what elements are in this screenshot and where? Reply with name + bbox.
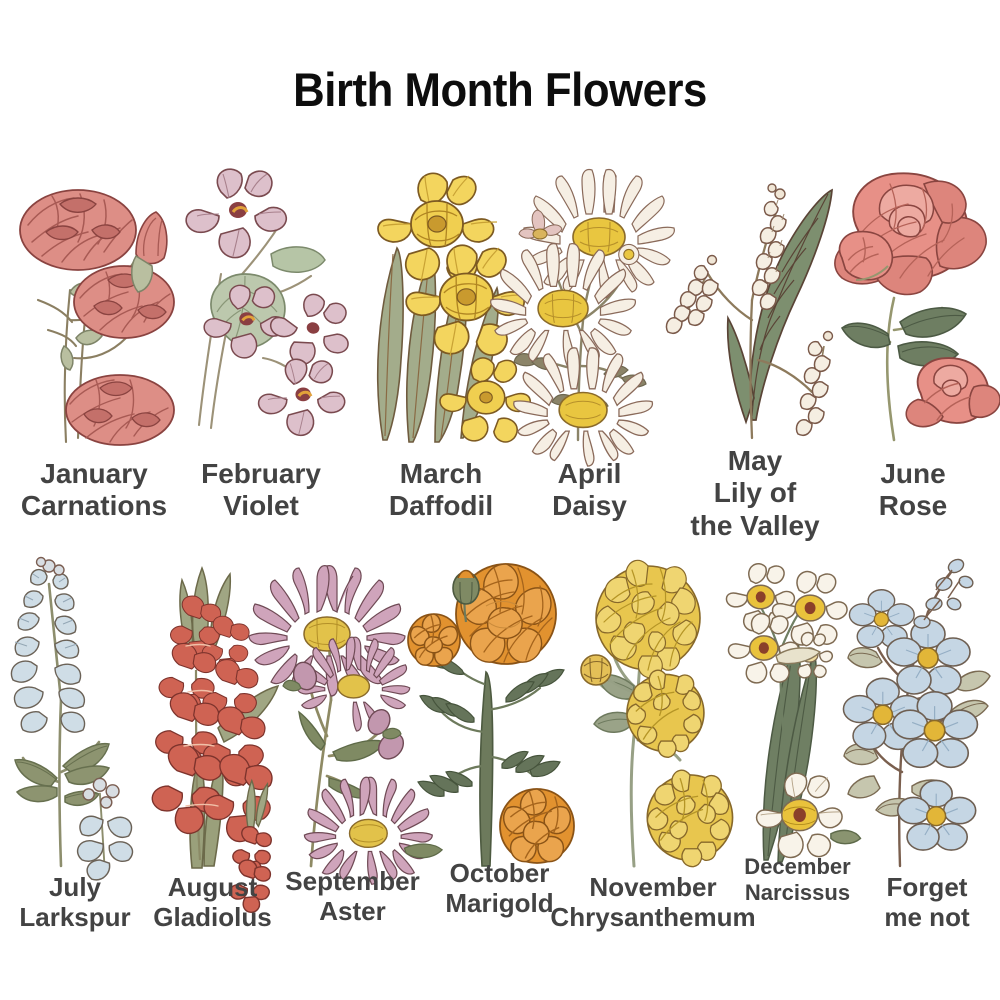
flower-caption-june: June Rose: [879, 458, 947, 523]
flower-cell-february[interactable]: February Violet: [175, 170, 347, 445]
flower-cell-january[interactable]: January Carnations: [8, 170, 180, 445]
flower-row-first-half: January Carnations: [0, 170, 1000, 560]
caption-line: May: [690, 445, 819, 477]
birth-month-flowers-poster: Birth Month Flowers: [0, 0, 1000, 1000]
flower-caption-november: November Chrysanthemum: [550, 872, 755, 932]
caption-line: me not: [884, 902, 969, 932]
chrysanthemum-illustration: [578, 560, 728, 870]
flower-caption-forget-me-not: Forget me not: [884, 872, 969, 932]
caption-line: August: [153, 872, 271, 902]
caption-line: Gladiolus: [153, 902, 271, 932]
caption-line: September: [285, 866, 419, 896]
rose-illustration: [828, 170, 998, 445]
flower-caption-march: March Daffodil: [389, 458, 493, 523]
caption-line: Larkspur: [19, 902, 130, 932]
aster-illustration: [275, 560, 430, 870]
violet-illustration: [175, 170, 347, 445]
flower-caption-may: May Lily of the Valley: [690, 445, 819, 542]
caption-line: March: [389, 458, 493, 490]
flower-caption-december: December Narcissus: [744, 854, 850, 905]
caption-line: Chrysanthemum: [550, 902, 755, 932]
larkspur-illustration: [5, 560, 145, 870]
caption-line: Forget: [884, 872, 969, 902]
caption-line: January: [21, 458, 167, 490]
caption-line: Aster: [285, 896, 419, 926]
flower-caption-july: July Larkspur: [19, 872, 130, 932]
flower-caption-august: August Gladiolus: [153, 872, 271, 932]
flower-cell-october[interactable]: October Marigold: [422, 560, 577, 870]
caption-line: Marigold: [445, 888, 553, 918]
caption-line: Lily of: [690, 477, 819, 509]
caption-line: Rose: [879, 490, 947, 522]
flower-caption-october: October Marigold: [445, 858, 553, 918]
caption-line: Daisy: [552, 490, 627, 522]
caption-line: Daffodil: [389, 490, 493, 522]
flower-cell-forget-me-not[interactable]: Forget me not: [856, 560, 998, 870]
lily-of-the-valley-illustration: [660, 170, 850, 445]
caption-line: Violet: [201, 490, 321, 522]
forget-me-not-illustration: [856, 560, 998, 870]
caption-line: October: [445, 858, 553, 888]
flower-cell-may[interactable]: May Lily of the Valley: [660, 170, 850, 445]
flower-cell-april[interactable]: April Daisy: [512, 170, 667, 445]
flower-cell-september[interactable]: September Aster: [275, 560, 430, 870]
flower-caption-september: September Aster: [285, 866, 419, 926]
caption-line: the Valley: [690, 510, 819, 542]
flower-row-second-half: July Larkspur: [0, 560, 1000, 970]
caption-line: Narcissus: [744, 880, 850, 906]
flower-caption-april: April Daisy: [552, 458, 627, 523]
flower-cell-june[interactable]: June Rose: [828, 170, 998, 445]
page-title: Birth Month Flowers: [35, 62, 965, 117]
caption-line: June: [879, 458, 947, 490]
caption-line: April: [552, 458, 627, 490]
flower-caption-february: February Violet: [201, 458, 321, 523]
flower-cell-july[interactable]: July Larkspur: [5, 560, 145, 870]
caption-line: July: [19, 872, 130, 902]
caption-line: November: [550, 872, 755, 902]
daisy-illustration: [512, 170, 667, 445]
carnation-illustration: [8, 170, 180, 445]
flower-cell-november[interactable]: November Chrysanthemum: [578, 560, 728, 870]
caption-line: December: [744, 854, 850, 880]
caption-line: Carnations: [21, 490, 167, 522]
marigold-illustration: [422, 560, 577, 870]
flower-caption-january: January Carnations: [21, 458, 167, 523]
caption-line: February: [201, 458, 321, 490]
